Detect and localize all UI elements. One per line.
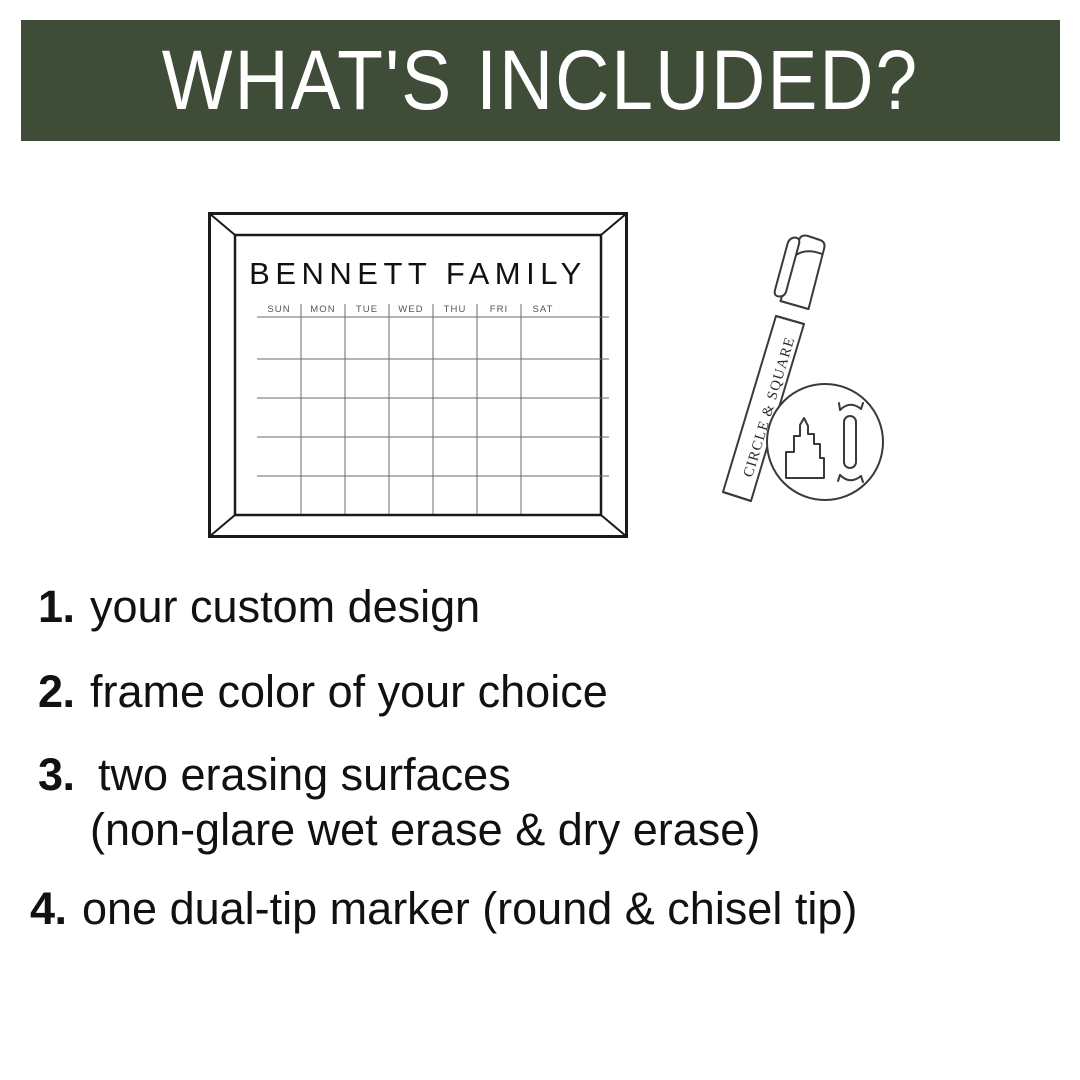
list-item-text: your custom design [90,580,1080,635]
calendar-board-illustration: BENNETT FAMILY SUN MON TUE WED THU FRI S… [208,212,628,538]
page-title: WHAT'S INCLUDED? [162,39,920,123]
day-header-thu: THU [444,304,467,315]
list-item-line: two erasing surfaces [90,748,1080,803]
list-item-text: two erasing surfaces (non-glare wet eras… [90,748,1080,858]
product-illustration: BENNETT FAMILY SUN MON TUE WED THU FRI S… [0,170,1080,570]
list-item-number: 2. [0,665,90,720]
list-item-number: 1. [0,580,90,635]
day-header-sat: SAT [532,304,553,315]
list-item: 2. frame color of your choice [0,665,1080,720]
list-item-text: frame color of your choice [90,665,1080,720]
marker-cap [775,236,825,310]
day-header-tue: TUE [356,304,378,315]
day-header-fri: FRI [490,304,509,315]
header-banner: WHAT'S INCLUDED? [21,20,1060,141]
marker-illustration: CIRCLE & SQUARE [700,220,900,520]
list-item-text: one dual-tip marker (round & chisel tip) [82,882,1080,937]
list-item: 1. your custom design [0,580,1080,635]
calendar-board-title: BENNETT FAMILY [249,256,587,291]
list-item-line: (non-glare wet erase & dry erase) [90,803,1080,858]
round-tip-icon [844,416,856,468]
list-item-number: 4. [0,882,82,937]
day-header-mon: MON [310,304,335,315]
list-item-line: frame color of your choice [90,665,1080,720]
included-items-list: 1. your custom design 2. frame color of … [0,580,1080,962]
list-item: 3. two erasing surfaces (non-glare wet e… [0,748,1080,858]
list-item: 4. one dual-tip marker (round & chisel t… [0,882,1080,937]
day-header-sun: SUN [267,304,290,315]
dual-tip-badge [767,384,883,500]
list-item-line: one dual-tip marker (round & chisel tip) [82,882,1080,937]
day-header-wed: WED [398,304,423,315]
list-item-line: your custom design [90,580,1080,635]
list-item-number: 3. [0,748,90,803]
